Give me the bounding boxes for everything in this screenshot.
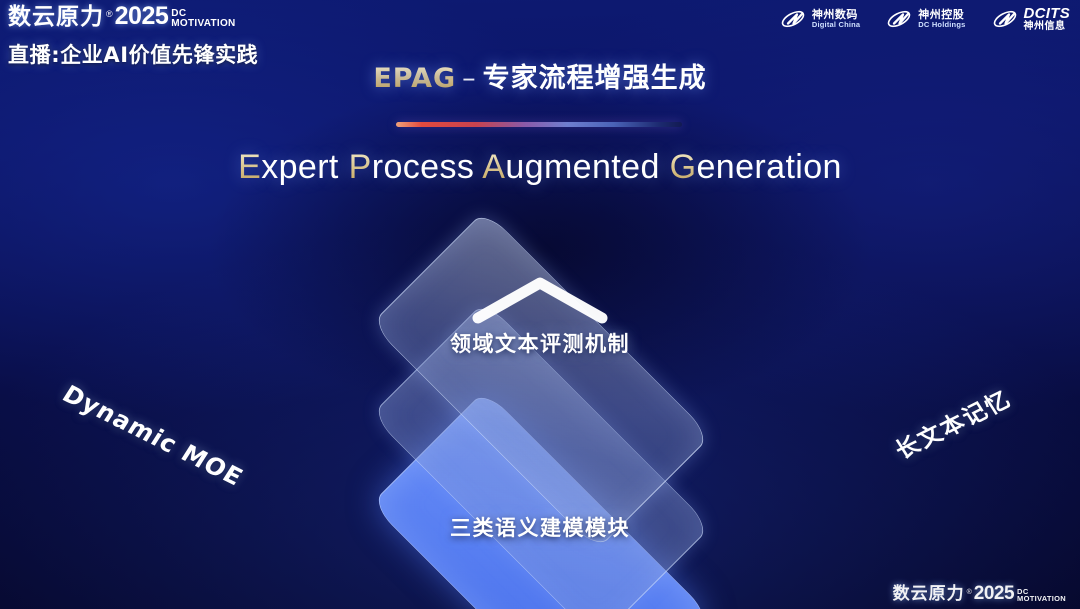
footer-brand-name-cn: 数云原力 xyxy=(893,586,965,603)
acronym-expansion: Expert Process Augmented Generation xyxy=(0,148,1080,187)
title-chinese: 专家流程增强生成 xyxy=(483,63,707,94)
footer-brand-registered-mark: ® xyxy=(967,589,972,596)
brand-motivation-label: MOTIVATION xyxy=(171,19,235,29)
partner-logo-bar: 神州数码 Digital China 神州控股 DC Holdings xyxy=(780,6,1070,32)
brand-dc-motivation: DC MOTIVATION xyxy=(171,9,235,29)
stack-layer-top-label: 领域文本评测机制 xyxy=(0,328,1080,358)
title-divider xyxy=(396,122,682,127)
swoosh-icon xyxy=(992,8,1018,30)
event-brand-logo: 数云原力 ® 2025 DC MOTIVATION xyxy=(8,4,328,29)
chevron-up-icon xyxy=(468,274,612,326)
footer-brand-logo: 数云原力 ® 2025 DC MOTIVATION xyxy=(893,584,1066,603)
partner-name-cn: 神州信息 xyxy=(1024,22,1071,33)
partner-logo-dcits: DCITS 神州信息 xyxy=(992,6,1071,32)
partner-name-en: DCITS xyxy=(1024,6,1071,22)
slide-canvas: 数云原力 ® 2025 DC MOTIVATION 直播:企业AI价值先锋实践 … xyxy=(0,0,1080,609)
title-acronym: EPAG xyxy=(373,63,456,94)
partner-name-en: Digital China xyxy=(812,21,860,29)
footer-brand-dc-motivation: DC MOTIVATION xyxy=(1017,588,1066,603)
partner-name-en: DC Holdings xyxy=(918,21,965,29)
layer-stack-diagram: 领域文本评测机制 Dynamic MOE 长文本记忆 三类语义建模模块 xyxy=(0,228,1080,568)
brand-name-cn: 数云原力 xyxy=(8,6,104,29)
footer-brand-year: 2025 xyxy=(974,584,1014,603)
swoosh-icon xyxy=(780,8,806,30)
expansion-w1-cap: E xyxy=(238,148,261,186)
expansion-w3-rest: ugmented xyxy=(505,148,659,186)
stack-layer-bottom-label: 三类语义建模模块 xyxy=(0,512,1080,542)
brand-registered-mark: ® xyxy=(106,9,113,19)
expansion-w4-rest: eneration xyxy=(696,148,841,186)
swoosh-icon xyxy=(886,8,912,30)
expansion-w2-cap: P xyxy=(349,148,372,186)
stack-layer-middle-label-left: Dynamic MOE xyxy=(57,380,248,491)
slide-title: EPAG–专家流程增强生成 xyxy=(0,56,1080,95)
partner-logo-dc-holdings: 神州控股 DC Holdings xyxy=(886,8,965,30)
footer-brand-motivation-label: MOTIVATION xyxy=(1017,595,1066,602)
stack-layer-middle-label-right: 长文本记忆 xyxy=(887,381,1017,466)
partner-logo-digital-china: 神州数码 Digital China xyxy=(780,8,860,30)
expansion-w1-rest: xpert xyxy=(261,148,339,186)
title-dash: – xyxy=(456,63,483,94)
brand-year: 2025 xyxy=(115,4,169,29)
expansion-w4-cap: G xyxy=(670,148,697,186)
expansion-w3-cap: A xyxy=(482,148,505,186)
expansion-w2-rest: rocess xyxy=(372,148,475,186)
